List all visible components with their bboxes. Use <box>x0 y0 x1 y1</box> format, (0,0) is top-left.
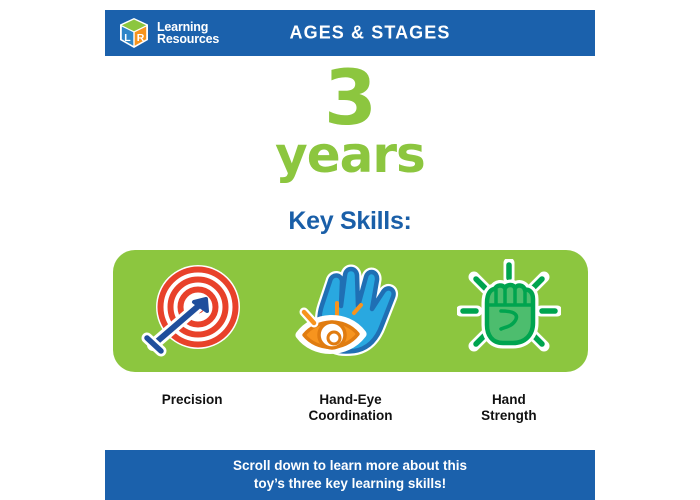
age-unit: years <box>0 130 700 180</box>
fist-strength-icon <box>457 259 561 363</box>
skill-label-hand-strength-line2: Strength <box>434 408 584 424</box>
skill-label-hand-strength-line1: Hand <box>434 392 584 408</box>
skill-icon-hand-strength <box>434 256 584 366</box>
skill-label-hand-eye: Hand-Eye Coordination <box>275 392 425 425</box>
footer-message-line1: Scroll down to learn more about this <box>233 457 467 475</box>
skill-icon-hand-eye <box>275 256 425 366</box>
header-bar: L R Learning Resources AGES & STAGES <box>105 10 595 56</box>
skill-label-precision-text: Precision <box>117 392 267 408</box>
footer-message: Scroll down to learn more about this toy… <box>233 457 467 493</box>
skills-panel <box>113 250 588 372</box>
age-block: 3 years <box>0 62 700 180</box>
footer-message-line2: toy’s three key learning skills! <box>233 475 467 493</box>
page-title: AGES & STAGES <box>105 23 595 44</box>
skill-label-hand-eye-line2: Coordination <box>275 408 425 424</box>
ages-and-stages-card: L R Learning Resources AGES & STAGES 3 y… <box>0 0 700 500</box>
age-number: 3 <box>0 62 700 134</box>
key-skills-heading: Key Skills: <box>0 207 700 236</box>
footer-bar[interactable]: Scroll down to learn more about this toy… <box>105 450 595 500</box>
skill-label-precision: Precision <box>117 392 267 425</box>
hand-eye-icon <box>292 259 408 363</box>
skill-icon-precision <box>117 256 267 366</box>
target-arrow-icon <box>140 259 244 363</box>
skill-labels-row: Precision Hand-Eye Coordination Hand Str… <box>113 392 588 425</box>
skill-label-hand-strength: Hand Strength <box>434 392 584 425</box>
skill-label-hand-eye-line1: Hand-Eye <box>275 392 425 408</box>
